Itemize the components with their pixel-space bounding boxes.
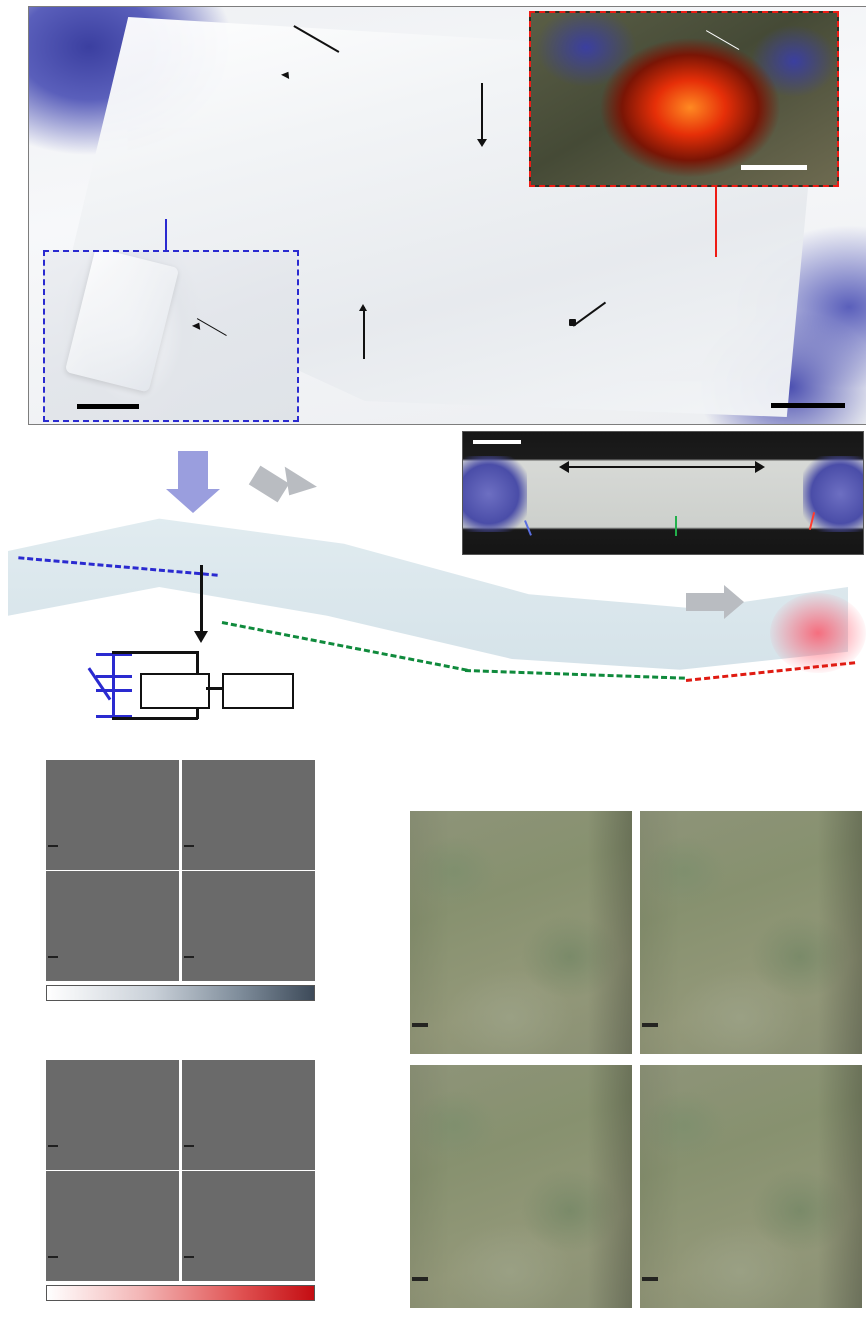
led-panel-shade-u: [410, 1065, 632, 1308]
patlabel-stretched-u: [48, 1256, 58, 1258]
crab-led-array: [531, 13, 837, 185]
scalebar-main: [771, 403, 845, 408]
scalebar-inset-red: [741, 165, 807, 170]
arrowhead-interconnect: [359, 304, 367, 311]
inset-qled-crab-photo: [529, 11, 839, 187]
panel-b-schematic: [0, 425, 866, 755]
post-synaptic-arrow-shaft: [686, 593, 726, 611]
arrow-rram: [481, 83, 483, 141]
led-label-u: [412, 1277, 428, 1281]
colorbar-pristine: [46, 985, 315, 1001]
heatmap-pristine-u: [46, 871, 179, 981]
led-panel-shade-k: [640, 1065, 862, 1308]
wire-top: [112, 651, 198, 654]
heatmap-stretched-u: [46, 1171, 179, 1281]
stretch-arrow-right: [755, 461, 765, 473]
wire-top-down: [196, 651, 199, 675]
arrow-to-circuit: [200, 565, 203, 635]
patlabel-pristine-k: [184, 956, 194, 958]
patlabel-stretched-s: [48, 1145, 58, 1147]
led-label-n: [642, 1023, 658, 1027]
scalebar-inset-blue: [77, 404, 139, 409]
arrowhead-rram: [477, 139, 487, 147]
heatmap-pristine-k: [182, 871, 315, 981]
figure-root: [0, 0, 866, 1338]
heatmap-stretched-s: [46, 1060, 179, 1170]
sensing-arrow-shaft: [178, 451, 208, 491]
stretch-arrow-line: [567, 466, 757, 468]
converter-block: [222, 673, 294, 709]
capacitor-variable-slash: [88, 668, 111, 701]
heatmap-stretched-k: [182, 1171, 315, 1281]
led-panel-shade-s: [410, 811, 632, 1054]
dmm-block: [140, 673, 210, 709]
arrow-inset-ann: [675, 516, 677, 536]
patlabel-stretched-k: [184, 1256, 194, 1258]
heatmap-stretched-n: [182, 1060, 315, 1170]
ann-underline-2: [465, 669, 685, 680]
colorbar-stretched: [46, 1285, 315, 1301]
arrowhead-to-circuit: [194, 631, 208, 643]
panel-c-heatmaps: [0, 755, 380, 1338]
inset-scalebar: [473, 440, 521, 444]
arrowhead-qled: [569, 319, 576, 326]
led-label-k: [642, 1277, 658, 1281]
panel-a-photograph: [28, 6, 866, 425]
arrow-interconnect: [363, 307, 365, 359]
post-synaptic-arrow-head: [724, 585, 744, 619]
patlabel-pristine-n: [184, 845, 194, 847]
patlabel-pristine-s: [48, 845, 58, 847]
voltage-arrow-head: [273, 467, 317, 506]
inset-mechanoreceptor-photo: [43, 250, 299, 422]
stretch-arrow-left: [559, 461, 569, 473]
led-array-k: [640, 1065, 862, 1308]
led-label-s: [412, 1023, 428, 1027]
led-array-n: [640, 811, 862, 1054]
label-voltage-signals: [229, 421, 346, 446]
inset-stretched-device-photo: [462, 431, 864, 555]
heatmap-pristine-n: [182, 760, 315, 870]
arrow-feedback: [715, 179, 717, 257]
heatmap-pristine-s: [46, 760, 179, 870]
patlabel-pristine-u: [48, 956, 58, 958]
stretched-device-arrays: [463, 432, 863, 554]
led-array-s: [410, 811, 632, 1054]
wire-bottom: [112, 717, 198, 720]
patlabel-stretched-n: [184, 1145, 194, 1147]
led-panel-shade-n: [640, 811, 862, 1054]
panel-d-qled-feedback: [388, 755, 866, 1338]
led-array-u: [410, 1065, 632, 1308]
sensing-arrow-head: [166, 489, 220, 513]
capacitor-stem: [112, 653, 115, 719]
